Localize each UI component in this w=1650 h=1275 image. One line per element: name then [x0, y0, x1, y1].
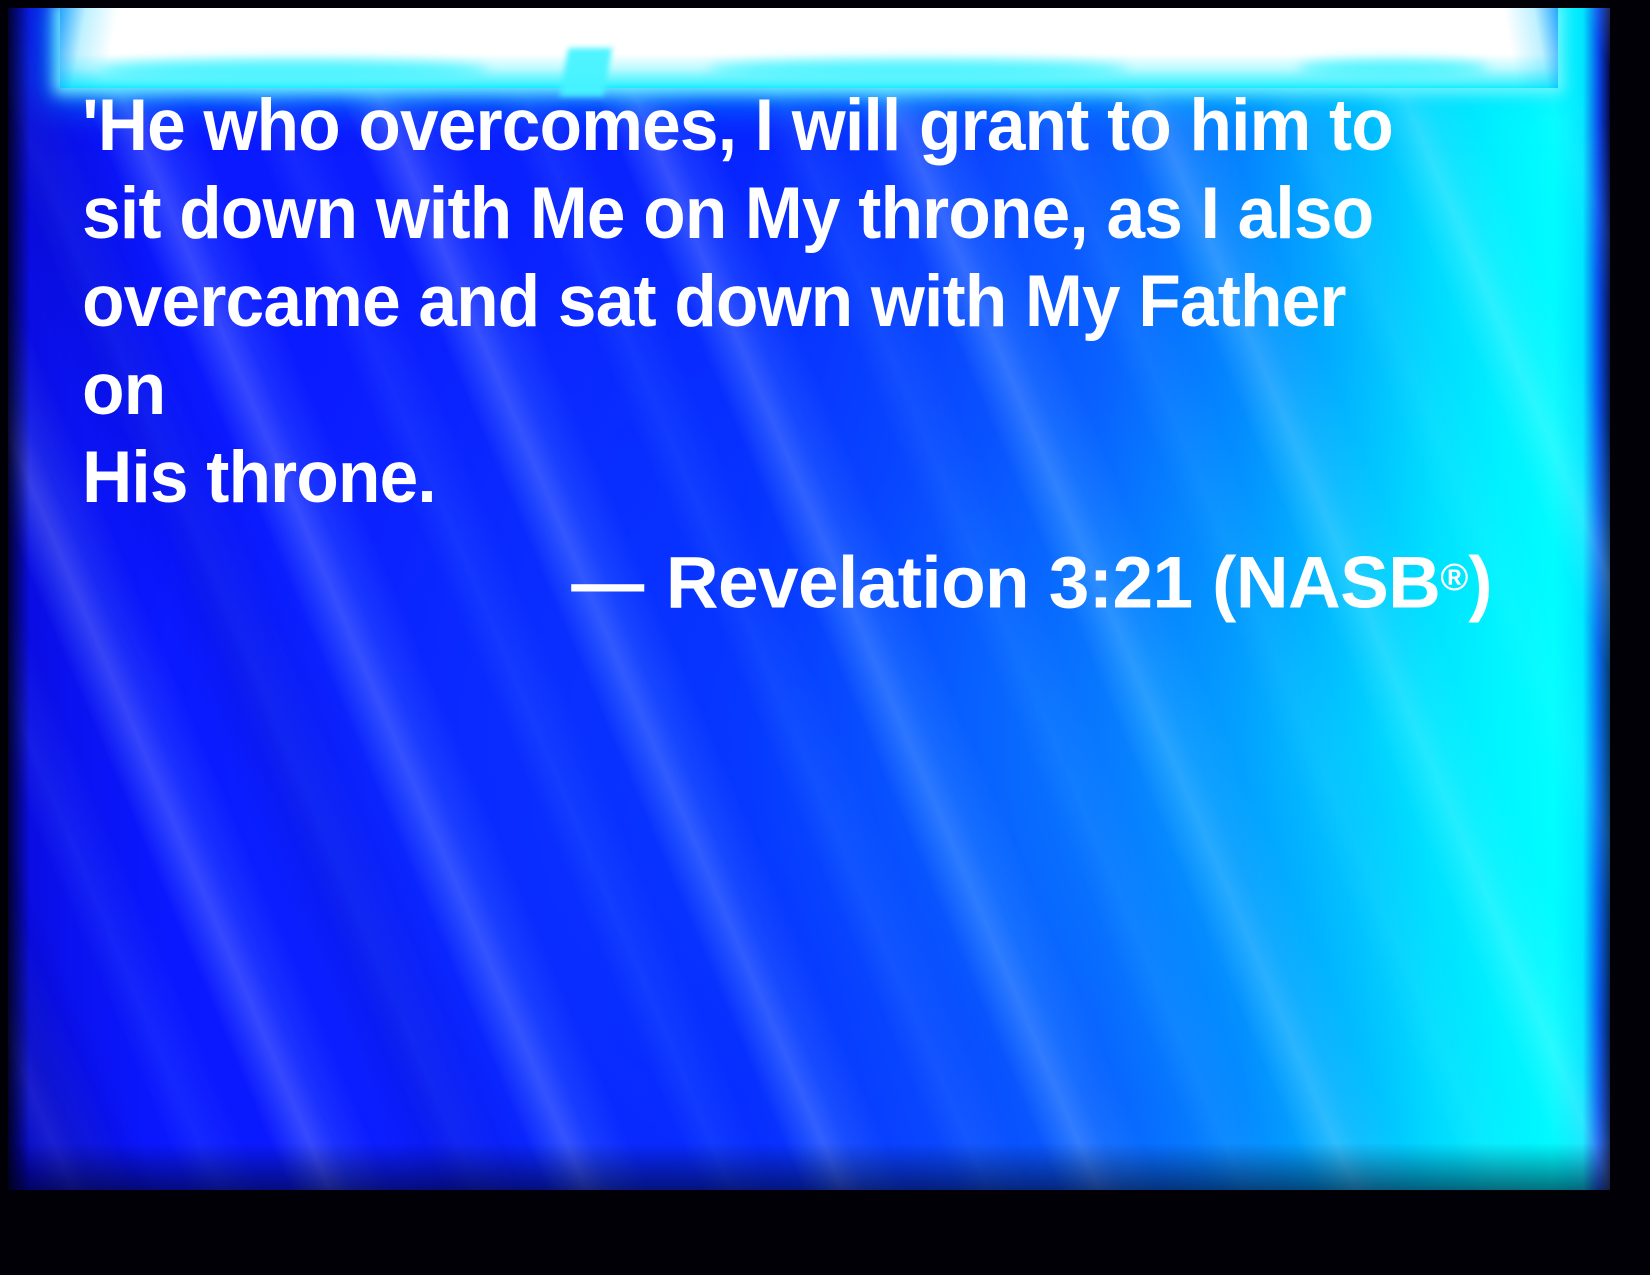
attribution-reference: 3:21 — [1049, 542, 1193, 623]
verse-text: 'He who overcomes, I will grant to him t… — [8, 8, 1530, 522]
text-block: 'He who overcomes, I will grant to him t… — [8, 8, 1610, 627]
registered-trademark-icon: ® — [1440, 557, 1468, 599]
attribution-open-paren: ( — [1212, 542, 1236, 623]
attribution-translation: NASB — [1236, 542, 1440, 623]
attribution-spacer-3 — [1192, 542, 1212, 623]
scripture-quote-slide: 'He who overcomes, I will grant to him t… — [0, 0, 1650, 1275]
attribution-em-dash: — — [571, 542, 646, 623]
slide-stage: 'He who overcomes, I will grant to him t… — [8, 8, 1610, 1190]
attribution-book: Revelation — [666, 542, 1029, 623]
attribution-spacer-1 — [646, 542, 666, 623]
verse-attribution: — Revelation 3:21 (NASB®) — [8, 522, 1610, 627]
attribution-close-paren: ) — [1468, 542, 1492, 623]
attribution-spacer-2 — [1029, 542, 1049, 623]
